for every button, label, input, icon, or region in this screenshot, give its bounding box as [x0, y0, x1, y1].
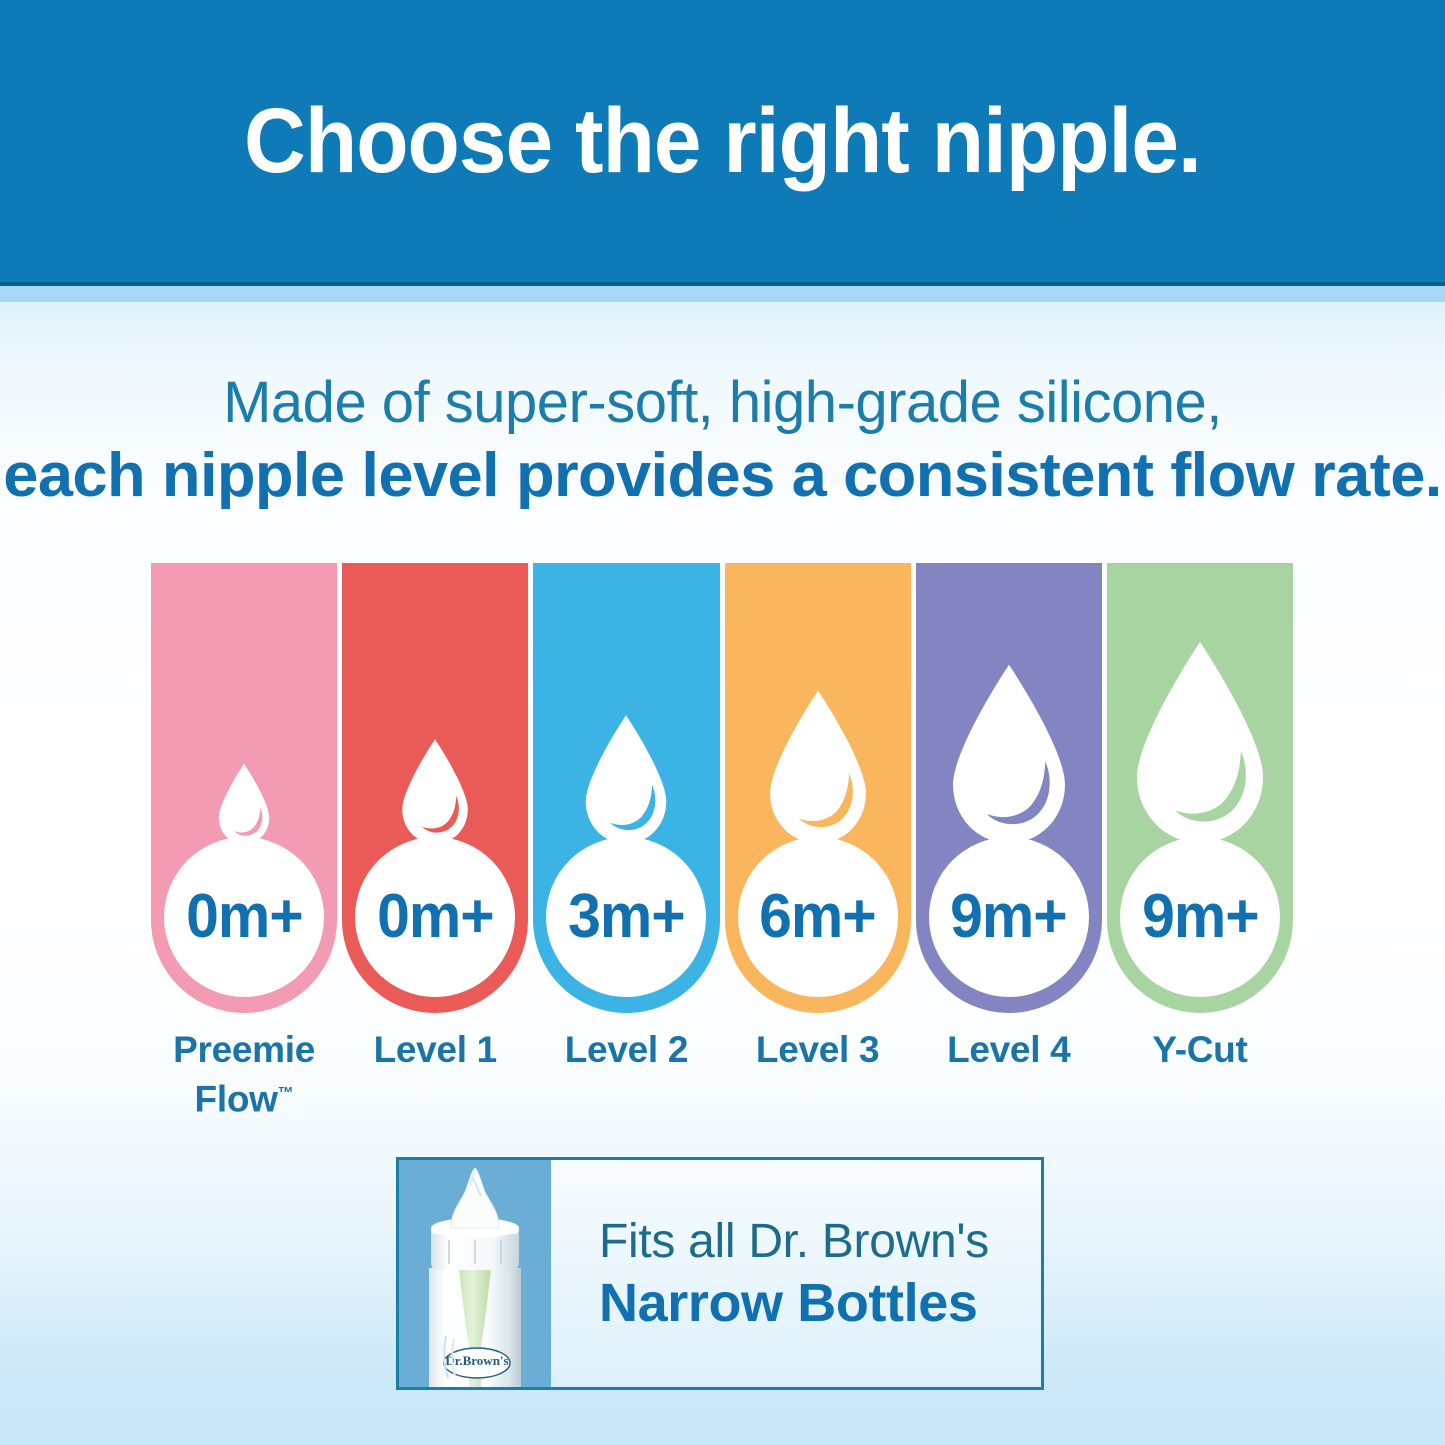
nipple-level-cards: 0m+0m+3m+6m+9m+9m+ [151, 563, 1293, 1013]
infographic-page: Choose the right nipple. Made of super-s… [0, 0, 1445, 1445]
bottle-photo-panel: Dr.Brown's [399, 1160, 551, 1387]
callout-text-block: Fits all Dr. Brown's Narrow Bottles [551, 1160, 1041, 1387]
callout-line-2: Narrow Bottles [599, 1271, 1041, 1335]
dr-browns-bottle-image: Dr.Brown's [415, 1160, 535, 1387]
age-badge: 0m+ [164, 837, 324, 997]
card-label-line-1: Level 4 [916, 1028, 1102, 1072]
water-drop-icon [1125, 640, 1275, 845]
drop-container [1107, 625, 1293, 845]
header-accent-strip [0, 286, 1445, 302]
header-band: Choose the right nipple. [0, 0, 1445, 282]
page-title: Choose the right nipple. [244, 95, 1201, 187]
card-label-line-1: Level 2 [533, 1028, 719, 1072]
drop-container [342, 625, 528, 845]
drop-container [725, 625, 911, 845]
card-label-line-1: Level 1 [342, 1028, 528, 1072]
card-label-line-1: Preemie [151, 1028, 337, 1072]
drop-container [151, 625, 337, 845]
drop-container [533, 625, 719, 845]
subtitle-line-1: Made of super-soft, high-grade silicone, [0, 368, 1445, 438]
card-label-level-3: Level 3 [725, 1028, 911, 1121]
card-label-level-2: Level 2 [533, 1028, 719, 1121]
water-drop-icon [396, 738, 474, 845]
card-label-line-2: Flow™ [151, 1072, 337, 1121]
age-label: 9m+ [950, 886, 1067, 948]
age-badge: 3m+ [546, 837, 706, 997]
card-label-level-4: Level 4 [916, 1028, 1102, 1121]
nipple-card-preemie-flow[interactable]: 0m+ [151, 563, 337, 1013]
water-drop-icon [578, 714, 674, 845]
card-label-y-cut: Y-Cut [1107, 1028, 1293, 1121]
card-label-level-1: Level 1 [342, 1028, 528, 1121]
age-label: 3m+ [568, 886, 685, 948]
age-label: 9m+ [1142, 886, 1259, 948]
water-drop-icon [942, 663, 1076, 845]
nipple-level-labels: PreemieFlow™Level 1Level 2Level 3Level 4… [151, 1028, 1293, 1121]
age-badge: 9m+ [1120, 837, 1280, 997]
card-label-line-2-text: Flow [195, 1078, 278, 1119]
drop-container [916, 625, 1102, 845]
nipple-card-level-3[interactable]: 6m+ [725, 563, 911, 1013]
age-badge: 9m+ [929, 837, 1089, 997]
water-drop-icon [761, 689, 875, 845]
age-badge: 0m+ [355, 837, 515, 997]
card-label-line-1: Y-Cut [1107, 1028, 1293, 1072]
age-label: 0m+ [186, 886, 303, 948]
card-label-preemie-flow: PreemieFlow™ [151, 1028, 337, 1121]
nipple-card-level-2[interactable]: 3m+ [533, 563, 719, 1013]
subtitle-block: Made of super-soft, high-grade silicone,… [0, 368, 1445, 514]
age-badge: 6m+ [738, 837, 898, 997]
card-label-line-1: Level 3 [725, 1028, 911, 1072]
water-drop-icon [214, 763, 274, 845]
trademark-symbol: ™ [278, 1085, 294, 1102]
nipple-card-level-1[interactable]: 0m+ [342, 563, 528, 1013]
age-label: 6m+ [759, 886, 876, 948]
callout-line-1: Fits all Dr. Brown's [599, 1213, 1041, 1271]
nipple-card-y-cut[interactable]: 9m+ [1107, 563, 1293, 1013]
fits-narrow-bottles-callout: Dr.Brown's Fits all Dr. Brown's Narrow B… [396, 1157, 1044, 1390]
nipple-card-level-4[interactable]: 9m+ [916, 563, 1102, 1013]
subtitle-line-2: each nipple level provides a consistent … [0, 438, 1445, 514]
dr-browns-logo-text: Dr.Brown's [445, 1353, 508, 1368]
age-label: 0m+ [377, 886, 494, 948]
